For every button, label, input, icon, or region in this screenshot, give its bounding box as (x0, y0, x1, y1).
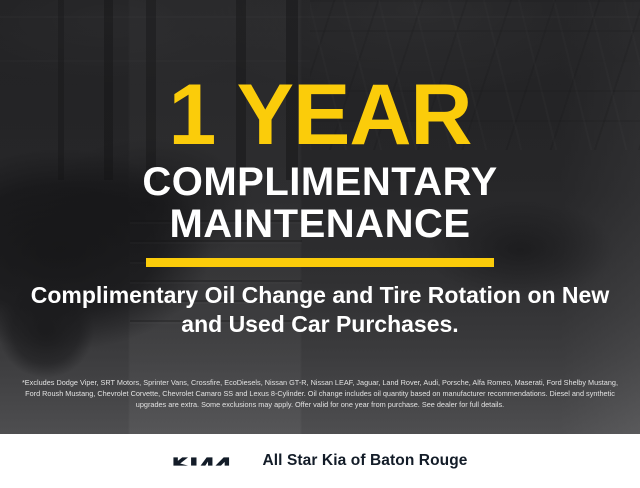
kia-logo (172, 452, 240, 471)
hero-section: 1 YEAR COMPLIMENTARY MAINTENANCE Complim… (0, 0, 640, 434)
dealer-name: All Star Kia of Baton Rouge (262, 452, 467, 470)
footer-bar: All Star Kia of Baton Rouge (0, 434, 640, 488)
yellow-divider-rule (146, 258, 494, 267)
headline-secondary-line-1: COMPLIMENTARY (142, 162, 497, 202)
subheadline: Complimentary Oil Change and Tire Rotati… (20, 281, 620, 340)
headline-secondary-line-2: MAINTENANCE (169, 204, 470, 244)
hero-content: 1 YEAR COMPLIMENTARY MAINTENANCE Complim… (0, 0, 640, 434)
headline-primary: 1 YEAR (168, 78, 471, 154)
promo-banner: 1 YEAR COMPLIMENTARY MAINTENANCE Complim… (0, 0, 640, 488)
disclaimer-text: *Excludes Dodge Viper, SRT Motors, Sprin… (14, 377, 626, 410)
